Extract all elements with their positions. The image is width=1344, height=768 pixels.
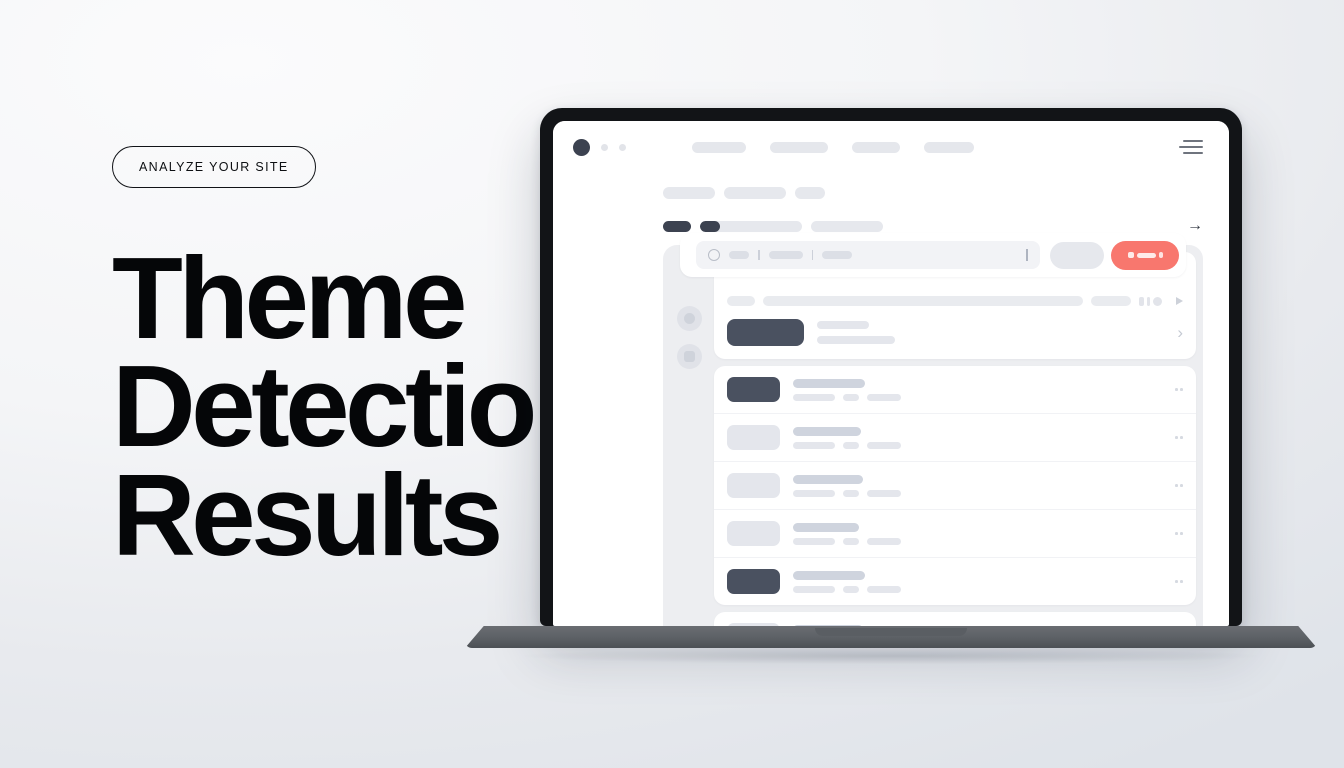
nav-item-3[interactable] [852, 142, 900, 153]
meta-label [811, 221, 883, 232]
row-thumbnail [727, 425, 780, 450]
title-chunk-2 [724, 187, 786, 199]
more-dots-icon[interactable] [1175, 436, 1183, 439]
page-title-skeleton [663, 187, 1203, 199]
more-dots-icon[interactable] [1175, 580, 1183, 583]
row-thumbnail [727, 377, 780, 402]
row-thumbnail [727, 521, 780, 546]
table-row[interactable] [714, 612, 1196, 626]
browser-topbar [553, 121, 1229, 173]
results-card [714, 366, 1196, 605]
hero-stage: ANALYZE YOUR SITE Theme Detection Result… [0, 0, 1344, 768]
nav-item-4[interactable] [924, 142, 974, 153]
table-row[interactable] [714, 413, 1196, 461]
status-badge [663, 221, 691, 232]
play-triangle-icon[interactable] [1176, 297, 1183, 305]
sidebar-rail [670, 252, 708, 626]
secondary-button[interactable] [1050, 242, 1104, 269]
row-thumbnail [727, 473, 780, 498]
window-dot-1 [601, 144, 608, 151]
row-thumbnail [727, 569, 780, 594]
page-meta-row: → [663, 218, 1203, 234]
analyze-site-badge[interactable]: ANALYZE YOUR SITE [112, 146, 316, 188]
circle-logo-icon [573, 139, 590, 156]
featured-card-header [714, 290, 1196, 313]
app-shell: › [663, 245, 1203, 626]
meta-dots-icon [1139, 297, 1162, 306]
laptop-mockup: → [540, 108, 1317, 656]
laptop-lid: → [540, 108, 1242, 626]
laptop-base-notch [815, 628, 967, 636]
progress-bar [700, 221, 802, 232]
rail-item-2[interactable] [677, 344, 702, 369]
window-dot-2 [619, 144, 626, 151]
nav-item-1[interactable] [692, 142, 746, 153]
table-row[interactable] [714, 509, 1196, 557]
app-content: › [714, 252, 1196, 626]
browser-nav [692, 142, 974, 153]
featured-thumbnail [727, 319, 804, 346]
search-toolbar [680, 233, 1186, 277]
more-dots-icon[interactable] [1175, 388, 1183, 391]
more-dots-icon[interactable] [1175, 484, 1183, 487]
chevron-right-icon[interactable]: › [1177, 324, 1183, 341]
search-circle-icon [708, 249, 720, 261]
table-row[interactable] [714, 366, 1196, 413]
arrow-right-icon[interactable]: → [1187, 218, 1203, 234]
text-caret [1026, 249, 1028, 261]
rail-item-1[interactable] [677, 306, 702, 331]
laptop-screen: → [553, 121, 1229, 626]
search-input[interactable] [696, 241, 1040, 269]
more-dots-icon[interactable] [1175, 532, 1183, 535]
title-chunk-3 [795, 187, 825, 199]
laptop-base [465, 626, 1317, 656]
featured-row[interactable]: › [714, 313, 1196, 359]
results-card-overflow [714, 612, 1196, 626]
title-chunk-1 [663, 187, 715, 199]
primary-action-button[interactable] [1111, 241, 1179, 270]
page-header: → [553, 173, 1229, 234]
table-row[interactable] [714, 557, 1196, 605]
table-row[interactable] [714, 461, 1196, 509]
featured-text [817, 321, 895, 344]
nav-item-2[interactable] [770, 142, 828, 153]
hamburger-menu-icon[interactable] [1179, 140, 1203, 155]
